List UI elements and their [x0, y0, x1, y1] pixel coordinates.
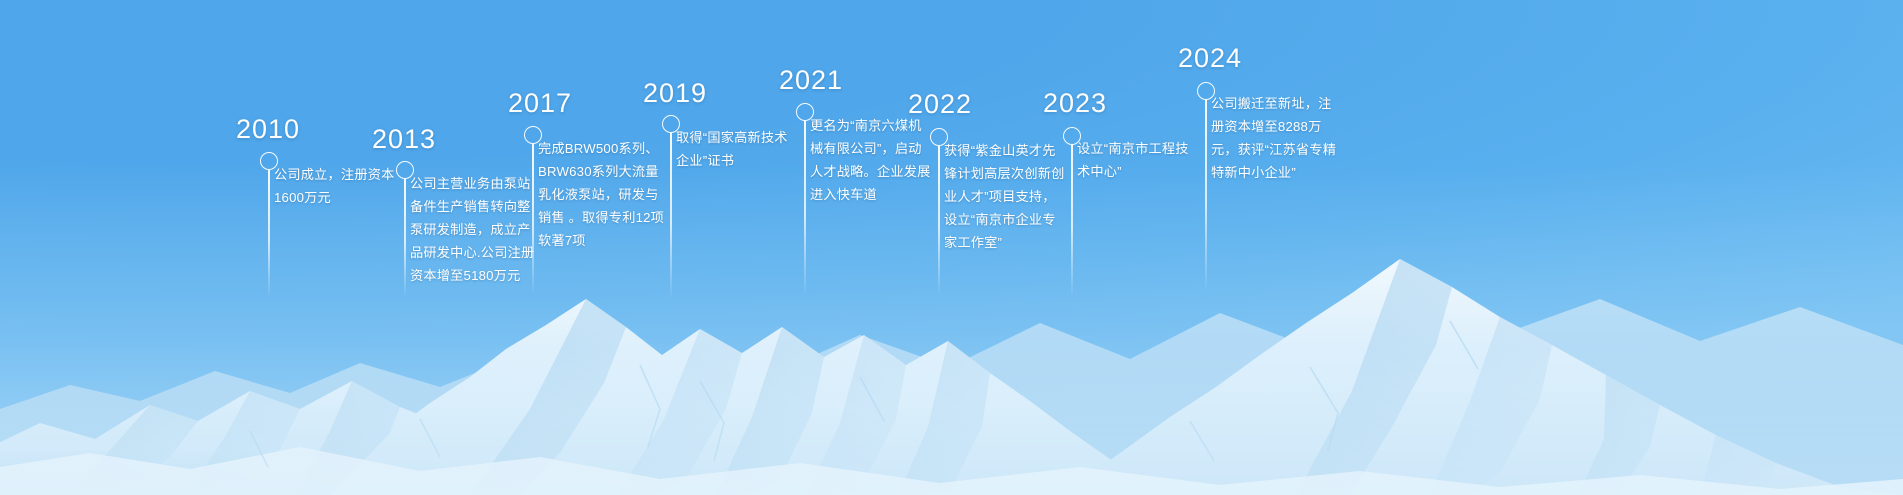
milestone-connector-line [670, 133, 671, 299]
milestone-connector-line [1071, 145, 1072, 297]
milestone-description: 设立“南京市工程技术中心” [1077, 137, 1197, 183]
milestone-description: 获得“紫金山英才先锋计划高层次创新创业人才”项目支持，设立“南京市企业专家工作室… [944, 139, 1068, 254]
milestone-connector-line [532, 144, 533, 294]
milestone-description: 公司搬迁至新址，注册资本增至8288万元，获评“江苏省专精特新中小企业” [1211, 92, 1339, 184]
milestone-connector-line [1205, 100, 1206, 292]
milestone-year-label: 2024 [1178, 43, 1242, 74]
milestone-connector-line [268, 170, 269, 297]
milestone-description: 完成BRW500系列、BRW630系列大流量乳化液泵站，研发与销售 。取得专利1… [538, 137, 666, 252]
milestone-connector-line [404, 179, 405, 297]
milestone-description: 公司主营业务由泵站备件生产销售转向整泵研发制造，成立产品研发中心.公司注册资本增… [410, 172, 538, 287]
milestone-description: 更名为“南京六煤机械有限公司”，启动人才战略。企业发展进入快车道 [810, 114, 935, 206]
milestone-description: 取得“国家高新技术企业”证书 [676, 126, 794, 172]
milestone-year-label: 2022 [908, 89, 972, 120]
milestone-connector-line [804, 121, 805, 296]
milestone-year-label: 2010 [236, 114, 300, 145]
milestone-year-label: 2013 [372, 124, 436, 155]
milestone-description: 公司成立，注册资本1600万元 [274, 163, 402, 209]
milestone-year-label: 2017 [508, 88, 572, 119]
milestone-connector-line [938, 146, 939, 296]
timeline-banner: 2010公司成立，注册资本1600万元2013公司主营业务由泵站备件生产销售转向… [0, 0, 1903, 495]
milestone-year-label: 2021 [779, 65, 843, 96]
milestone-year-label: 2019 [643, 78, 707, 109]
milestone-year-label: 2023 [1043, 88, 1107, 119]
